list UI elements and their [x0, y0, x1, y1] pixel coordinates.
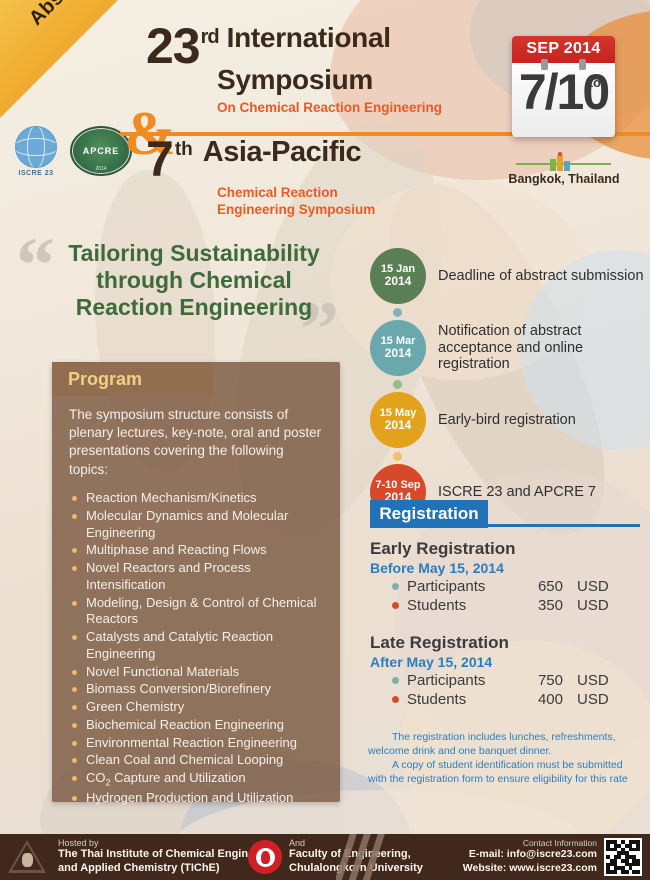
- tagline-line-3: Reaction Engineering: [44, 294, 344, 321]
- fee-amount: 400: [519, 691, 563, 708]
- early-registration-fee-row: Students350USD: [370, 597, 645, 614]
- program-heading: Program: [52, 362, 212, 396]
- event1-word-2: Symposium: [217, 66, 442, 94]
- timeline-date-line-2: 2014: [385, 275, 412, 288]
- poster-header: ISCRE 23 APCRE 2014 23 rd International …: [0, 0, 650, 222]
- fee-bullet-icon: [392, 602, 399, 609]
- program-heading-label: Program: [68, 369, 142, 390]
- tiche-triangle-icon: [8, 840, 48, 874]
- program-topic-item: Green Chemistry: [70, 699, 332, 716]
- timeline-description: Early-bird registration: [438, 412, 576, 429]
- fee-amount: 350: [519, 597, 563, 614]
- iscre-logo-caption: ISCRE 23: [10, 170, 62, 177]
- program-topic-item: Reaction Mechanism/Kinetics: [70, 490, 332, 507]
- timeline-connector-dot: [393, 308, 402, 317]
- program-topic-item: Hydrogen Production and Utilization: [70, 790, 332, 807]
- timeline-date-line-2: 2014: [385, 419, 412, 432]
- fee-currency: USD: [577, 672, 609, 689]
- program-topic-item: Catalysts and Catalytic Reaction Enginee…: [70, 629, 332, 663]
- event1-word-1: International: [227, 24, 391, 52]
- fee-amount: 750: [519, 672, 563, 689]
- contact-block: Contact Information E-mail: info@iscre23…: [463, 834, 642, 880]
- early-registration-deadline: Before May 15, 2014: [370, 560, 645, 576]
- contact-email[interactable]: E-mail: info@iscre23.com: [463, 848, 597, 862]
- poster-footer: Hosted by The Thai Institute of Chemical…: [0, 834, 650, 880]
- fee-currency: USD: [577, 691, 609, 708]
- tagline-line-2: through Chemical: [44, 267, 344, 294]
- event2-ordinal: th: [175, 141, 193, 159]
- program-intro-text: The symposium structure consists of plen…: [69, 406, 325, 479]
- apcre-logo-year: 2014: [72, 166, 130, 172]
- program-topic-item: Modeling, Design & Control of Chemical R…: [70, 595, 332, 629]
- timeline-date-badge: 15 Mar2014: [370, 320, 426, 376]
- timeline-item: 15 Mar2014Notification of abstract accep…: [370, 320, 645, 376]
- event2-subtitle-line-1: Chemical Reaction: [217, 185, 375, 202]
- fee-bullet-icon: [392, 583, 399, 590]
- timeline-description: Notification of abstract acceptance and …: [438, 323, 645, 373]
- date-badge-body: 7/10 to: [512, 63, 615, 137]
- event2-word-1: Asia-Pacific: [203, 137, 361, 169]
- fee-label: Participants: [407, 578, 519, 595]
- host-name-line-2: and Applied Chemistry (TIChE): [58, 862, 281, 876]
- event2-subtitle-line-2: Engineering Symposium: [217, 202, 375, 219]
- program-topic-item: CO2 Capture and Utilization: [70, 770, 332, 789]
- host-name-line-1: The Thai Institute of Chemical Engineeri…: [58, 848, 281, 862]
- timeline-item: 15 Jan2014Deadline of abstract submissio…: [370, 248, 645, 304]
- early-registration-fee-row: Participants650USD: [370, 578, 645, 595]
- program-panel: Program The symposium structure consists…: [52, 362, 340, 802]
- timeline-connector-dot: [393, 380, 402, 389]
- conference-poster: Call for Abstract ISCRE 23 APCRE 2014 23…: [0, 0, 650, 880]
- fee-amount: 650: [519, 578, 563, 595]
- footer-slash-decoration: [336, 834, 390, 880]
- timeline-date-badge: 15 May2014: [370, 392, 426, 448]
- fee-currency: USD: [577, 597, 609, 614]
- poster-tagline: Tailoring Sustainability through Chemica…: [44, 240, 344, 321]
- fee-label: Students: [407, 597, 519, 614]
- apcre-logo-text: APCRE: [83, 146, 120, 156]
- fee-label: Students: [407, 691, 519, 708]
- event-title-primary: 23 rd International Symposium On Chemica…: [146, 24, 442, 115]
- date-badge: SEP 2014 7/10 to: [512, 36, 615, 137]
- timeline-date-badge: 15 Jan2014: [370, 248, 426, 304]
- program-topic-item: Novel Reactors and Process Intensificati…: [70, 560, 332, 594]
- late-registration-fee-row: Participants750USD: [370, 672, 645, 689]
- timeline-description: Deadline of abstract submission: [438, 268, 644, 285]
- fee-label: Participants: [407, 672, 519, 689]
- qr-code-icon: [604, 838, 642, 876]
- tagline-line-1: Tailoring Sustainability: [44, 240, 344, 267]
- fee-bullet-icon: [392, 677, 399, 684]
- late-registration-title: Late Registration: [370, 634, 645, 653]
- program-topic-item: Novel Functional Materials: [70, 664, 332, 681]
- key-dates-timeline: 15 Jan2014Deadline of abstract submissio…: [370, 248, 645, 524]
- event2-number: 7: [146, 137, 174, 182]
- registration-note-2: A copy of student identification must be…: [368, 758, 630, 787]
- early-registration-title: Early Registration: [370, 540, 645, 559]
- iscre-globe-icon: ISCRE 23: [10, 126, 62, 177]
- program-topic-item: Environmental Reaction Engineering: [70, 735, 332, 752]
- date-badge-to-label: to: [589, 75, 601, 90]
- city-buildings-icon: [548, 152, 572, 172]
- timeline-item: 15 May2014Early-bird registration: [370, 392, 645, 448]
- contact-heading: Contact Information: [463, 838, 597, 848]
- event1-number: 23: [146, 24, 200, 68]
- hosted-by-label: Hosted by: [58, 838, 281, 848]
- late-registration-deadline: After May 15, 2014: [370, 654, 645, 670]
- event1-ordinal: rd: [201, 28, 219, 46]
- registration-banner: Registration: [370, 500, 488, 528]
- fee-currency: USD: [577, 578, 609, 595]
- registration-banner-label: Registration: [379, 504, 478, 524]
- program-topic-item: Clean Coal and Chemical Looping: [70, 752, 332, 769]
- event-title-secondary: 7 th Asia-Pacific Chemical Reaction Engi…: [146, 137, 375, 219]
- program-topic-item: Biomass Conversion/Biorefinery: [70, 681, 332, 698]
- date-badge-day-to: 10: [557, 64, 609, 120]
- date-badge-day-from: 7: [519, 64, 545, 120]
- timeline-date-line-2: 2014: [385, 347, 412, 360]
- late-registration-fee-row: Students400USD: [370, 691, 645, 708]
- event-location: Bangkok, Thailand: [505, 172, 623, 186]
- registration-divider: [488, 524, 640, 527]
- host-block: Hosted by The Thai Institute of Chemical…: [0, 834, 281, 880]
- program-topics-list: Reaction Mechanism/KineticsMolecular Dyn…: [70, 490, 332, 808]
- program-topic-item: Biochemical Reaction Engineering: [70, 717, 332, 734]
- program-topic-item: Molecular Dynamics and Molecular Enginee…: [70, 508, 332, 542]
- timeline-description: ISCRE 23 and APCRE 7: [438, 484, 596, 501]
- early-registration-group: Early Registration Before May 15, 2014 P…: [370, 540, 645, 614]
- contact-website[interactable]: Website: www.iscre23.com: [463, 862, 597, 876]
- chulalongkorn-gear-icon: [250, 842, 280, 872]
- timeline-connector-dot: [393, 452, 402, 461]
- registration-note-1: The registration includes lunches, refre…: [368, 730, 630, 759]
- late-registration-group: Late Registration After May 15, 2014 Par…: [370, 634, 645, 708]
- program-topic-item: Multiphase and Reacting Flows: [70, 542, 332, 559]
- event1-subtitle: On Chemical Reaction Engineering: [217, 100, 442, 115]
- fee-bullet-icon: [392, 696, 399, 703]
- organization-logos: ISCRE 23 APCRE 2014: [10, 126, 132, 177]
